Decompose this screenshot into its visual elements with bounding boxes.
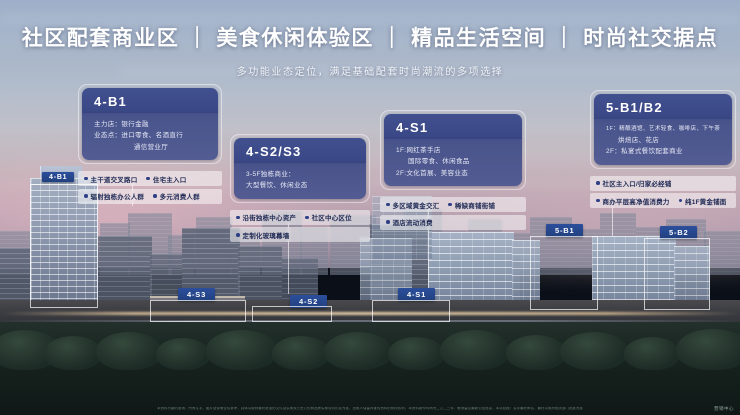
bullet-item: 商办平层高净值消费力 [596,196,670,206]
building-highlight-box [530,236,598,310]
bullet-row: 定制化玻璃幕墙 [230,227,370,242]
bullet-dot-icon [236,216,240,220]
bullet-row: 辐射独栋办公人群 多元消费人群 [78,189,222,204]
callout-bullets: 社区主入口/归家必经铺 商办平层高净值消费力 纯1F黄金铺面 [590,176,736,209]
bullet-label: 商办平层高净值消费力 [603,196,670,206]
bullet-dot-icon [305,216,309,220]
bullet-label: 主干道交叉路口 [91,174,138,184]
bullet-label: 稀缺商铺街铺 [455,200,495,210]
callout-card-4-s2-s3[interactable]: 4-S2/S3 3-5F独栋商业： 大型餐饮、休闲业态 沿街独栋中心资产 社区中… [230,134,370,245]
callout-card-5-b1-b2[interactable]: 5-B1/B2 1F：精酿酒馆、艺术轻食、咖啡店、下午茶 烘焙店、花店 2F：私… [590,90,736,211]
legal-disclaimer: 本资料为要约邀请，所有文字、图片及说明仅供参考，具体以政府最终批准的文件及买卖双… [0,407,740,411]
callout-header: 5-B1/B2 [594,94,732,119]
bullet-label: 多元消费人群 [160,191,200,201]
bullet-dot-icon [448,203,452,207]
building-highlight-box [372,300,450,322]
callout-body: 主力店：银行金融 业态点：进口零食、名酒直行 通信营业厅 [82,113,218,160]
callout-header: 4-S1 [384,114,522,139]
bullet-item: 稀缺商铺街铺 [448,200,495,210]
callout-bullets: 沿街独栋中心资产 社区中心区位 定制化玻璃幕墙 [230,210,370,243]
road-light-line [0,312,740,315]
bullet-label: 社区中心区位 [312,212,352,222]
marketing-render-canvas: 社区配套商业区 ｜ 美食休闲体验区 ｜ 精品生活空间 ｜ 时尚社交据点 多功能业… [0,0,740,415]
callout-header: 4-S2/S3 [234,138,366,163]
callout-body: 1F:网红茶手店 国际零食、休闲食品 2F:文化首展、美容业态 [384,139,522,186]
bullet-dot-icon [596,181,600,185]
callout-line: 通信营业厅 [94,142,208,153]
cloud-band [120,66,740,75]
bullet-dot-icon [146,177,150,181]
callout-bullets: 主干道交叉路口 住宅主入口 辐射独栋办公人群 多元消费人群 [78,171,222,204]
callout-title: 4-S1 [396,120,512,135]
callout-line: 主力店：银行金融 [94,119,208,130]
bullet-dot-icon [386,203,390,207]
cloud-band [0,14,740,24]
callout-line: 2F：私宴式餐饮配套商业 [606,146,722,157]
callout-body: 3-5F独栋商业： 大型餐饮、休闲业态 [234,163,366,199]
bullet-item: 纯1F黄金铺面 [679,196,727,206]
bullet-item: 沿街独栋中心资产 [236,212,296,222]
callout-line: 3-5F独栋商业： [246,169,356,180]
callout-line: 国际零食、休闲食品 [396,156,512,167]
callout-line: 大型餐饮、休闲业态 [246,180,356,191]
callout-line: 2F:文化首展、美容业态 [396,168,512,179]
bullet-item: 定制化玻璃幕墙 [236,230,289,240]
bullet-item: 住宅主入口 [146,174,186,184]
building-highlight-box [30,184,98,308]
callout-title: 4-S2/S3 [246,144,356,159]
callout-line: 烘焙店、花店 [606,135,722,146]
bullet-item: 主干道交叉路口 [84,174,137,184]
bullet-label: 住宅主入口 [153,174,187,184]
bullet-dot-icon [153,194,157,198]
building-highlight-box [252,306,332,322]
callout-body: 1F：精酿酒馆、艺术轻食、咖啡店、下午茶 烘焙店、花店 2F：私宴式餐饮配套商业 [594,119,732,165]
callout-header: 4-B1 [82,88,218,113]
callout-line: 1F：精酿酒馆、艺术轻食、咖啡店、下午茶 [606,125,722,135]
callout-card-4-b1[interactable]: 4-B1 主力店：银行金融 业态点：进口零食、名酒直行 通信营业厅 主干道交叉路… [78,84,222,206]
building-highlight-box [150,300,246,322]
building-highlight-box [644,238,710,310]
callout-frame: 5-B1/B2 1F：精酿酒馆、艺术轻食、咖啡店、下午茶 烘焙店、花店 2F：私… [590,90,736,169]
bullet-label: 定制化玻璃幕墙 [243,230,290,240]
bullet-dot-icon [596,199,600,203]
bullet-row: 社区主入口/归家必经铺 [590,176,736,191]
footer-logo: 营销中心 [714,406,734,412]
callout-line: 1F:网红茶手店 [396,145,512,156]
callout-frame: 4-S1 1F:网红茶手店 国际零食、休闲食品 2F:文化首展、美容业态 [380,110,526,190]
tower-5-b1 [428,232,514,310]
bullet-label: 多区域黄金交汇 [393,200,440,210]
bullet-dot-icon [679,199,683,203]
bullet-item: 多元消费人群 [153,191,200,201]
bullet-row: 多区域黄金交汇 稀缺商铺街铺 [380,197,526,212]
bullet-item: 社区主入口/归家必经铺 [596,178,672,188]
bullet-dot-icon [84,177,88,181]
callout-frame: 4-B1 主力店：银行金融 业态点：进口零食、名酒直行 通信营业厅 [78,84,222,164]
bullet-label: 辐射独栋办公人群 [91,191,145,201]
bullet-label: 沿街独栋中心资产 [243,212,297,222]
bullet-row: 沿街独栋中心资产 社区中心区位 [230,210,370,225]
bullet-item: 酒店流动消费 [386,217,433,227]
bullet-row: 商办平层高净值消费力 纯1F黄金铺面 [590,193,736,208]
callout-title: 5-B1/B2 [606,100,722,115]
bullet-dot-icon [386,220,390,224]
foreground-canopy [0,330,740,370]
building-tag-4-b1[interactable]: 4-B1 [42,172,74,182]
bullet-label: 酒店流动消费 [393,217,433,227]
bullet-item: 多区域黄金交汇 [386,200,439,210]
bullet-item: 社区中心区位 [305,212,352,222]
callout-title: 4-B1 [94,94,208,109]
cloud-band [0,38,580,45]
bullet-row: 主干道交叉路口 住宅主入口 [78,171,222,186]
bullet-dot-icon [236,233,240,237]
callout-bullets: 多区域黄金交汇 稀缺商铺街铺 酒店流动消费 [380,197,526,230]
bullet-label: 社区主入口/归家必经铺 [603,178,672,188]
callout-card-4-s1[interactable]: 4-S1 1F:网红茶手店 国际零食、休闲食品 2F:文化首展、美容业态 多区域… [380,110,526,232]
bullet-row: 酒店流动消费 [380,215,526,230]
callout-line: 业态点：进口零食、名酒直行 [94,130,208,141]
bullet-label: 纯1F黄金铺面 [685,196,727,206]
callout-frame: 4-S2/S3 3-5F独栋商业： 大型餐饮、休闲业态 [230,134,370,203]
